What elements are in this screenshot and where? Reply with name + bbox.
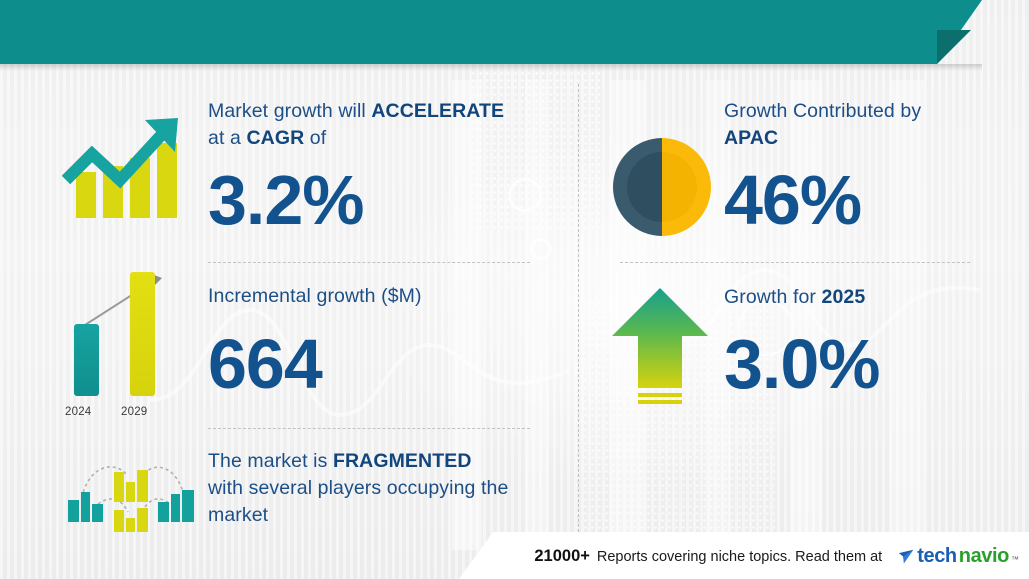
horizontal-divider-left-2 [208, 428, 530, 429]
apac-caption-plain: Growth Contributed by [724, 100, 921, 122]
horizontal-divider-left-1 [208, 262, 530, 263]
growth-2025-value: 3.0% [724, 327, 880, 401]
city-clusters-network-icon [58, 448, 204, 536]
cagr-value: 3.2% [208, 163, 364, 237]
footer-content: 21000+ Reports covering niche topics. Re… [534, 545, 1019, 568]
bar-label-2024: 2024 [65, 406, 91, 418]
logo-trademark: ™ [1011, 555, 1019, 564]
apac-value: 46% [724, 163, 861, 237]
header-fold-shadow [937, 30, 971, 64]
header-banner [0, 0, 937, 64]
vertical-divider [578, 84, 579, 532]
donut-chart-icon [613, 138, 711, 236]
header-drop-shadow [0, 64, 982, 71]
bar-label-2029: 2029 [121, 406, 147, 418]
cagr-caption-plain-2: at a [208, 127, 246, 149]
cagr-caption-bold-cagr: CAGR [246, 127, 304, 149]
background-ring-1 [508, 178, 542, 212]
horizontal-divider-right-1 [620, 262, 970, 263]
growth-2025-caption: Growth for 2025 [724, 284, 1014, 311]
footer: 21000+ Reports covering niche topics. Re… [0, 532, 1029, 579]
incremental-growth-value: 664 [208, 327, 322, 401]
growth-2025-caption-plain: Growth for [724, 286, 822, 308]
two-bar-comparison-icon: 2024 2029 [60, 262, 200, 420]
fragmented-caption-plain-2: with several players occupying the marke… [208, 477, 508, 526]
fragmented-caption: The market is FRAGMENTED with several pl… [208, 448, 558, 529]
donut-inner-ring [627, 152, 697, 222]
apac-caption-bold: APAC [724, 127, 778, 149]
technavio-arrow-icon [898, 548, 915, 565]
technavio-logo[interactable]: technavio™ [898, 545, 1019, 568]
fragmented-caption-bold: FRAGMENTED [333, 450, 472, 472]
growth-arrow-bar-chart-icon [62, 108, 197, 228]
cagr-caption-plain-1: Market growth will [208, 100, 371, 122]
logo-text-tech: tech [917, 545, 957, 568]
incremental-growth-caption: Incremental growth ($M) [208, 283, 422, 310]
cagr-caption-bold-accelerate: ACCELERATE [371, 100, 504, 122]
apac-caption: Growth Contributed by APAC [724, 98, 1014, 152]
infographic-page: GLOBAL AUTOMATION IN TEXTILE INDUSTRY MA… [0, 0, 1029, 579]
footer-text: Reports covering niche topics. Read them… [597, 549, 882, 565]
bar-2029 [130, 272, 155, 396]
growth-2025-caption-bold: 2025 [822, 286, 866, 308]
logo-text-navio: navio [959, 545, 1009, 568]
report-count: 21000+ [534, 547, 590, 566]
cagr-caption: Market growth will ACCELERATE at a CAGR … [208, 98, 558, 152]
fragmented-caption-plain-1: The market is [208, 450, 333, 472]
upward-gradient-arrow-icon [608, 284, 712, 406]
cagr-caption-tail: of [304, 127, 326, 149]
bar-2024 [74, 324, 99, 396]
